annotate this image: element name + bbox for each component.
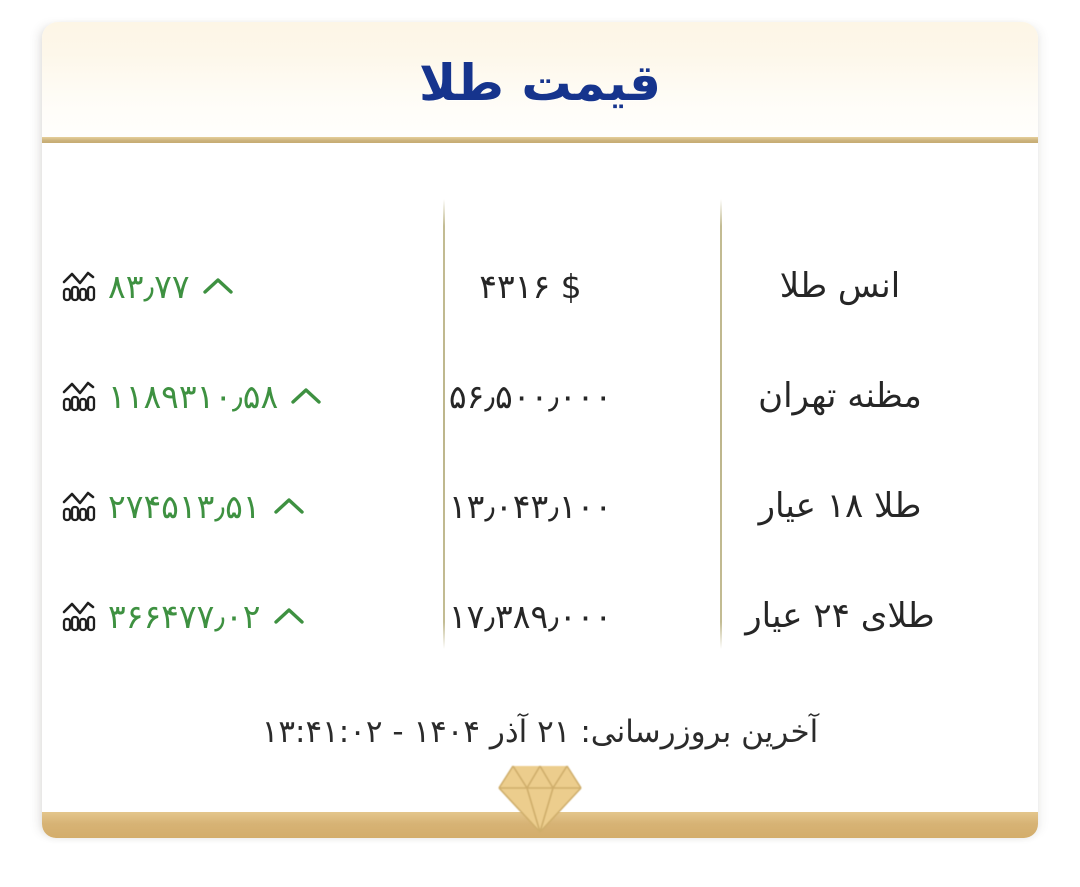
bar-chart-trend-icon[interactable] — [62, 490, 96, 522]
row-price: ۵۶٫۵۰۰٫۰۰۰ — [393, 377, 668, 416]
page-title: قیمت طلا — [419, 58, 661, 108]
row-label: طلای ۲۴ عیار — [690, 596, 990, 636]
caret-up-icon — [273, 496, 305, 516]
row-change-value: ۳۶۶۴۷۷٫۰۲ — [108, 597, 261, 636]
page-root: قیمت طلا انس طلا ۴۳۱۶ $ — [0, 0, 1080, 887]
table-row[interactable]: مظنه تهران ۵۶٫۵۰۰٫۰۰۰ ۱۱۸۹ — [42, 341, 1038, 451]
row-label: طلا ۱۸ عیار — [690, 486, 990, 526]
last-update-text: آخرین بروزرسانی: ۲۱ آذر ۱۴۰۴ - ۱۳:۴۱:۰۲ — [42, 714, 1038, 750]
table-row[interactable]: طلای ۲۴ عیار ۱۷٫۳۸۹٫۰۰۰ ۳۶ — [42, 561, 1038, 671]
caret-up-icon — [202, 276, 234, 296]
diamond-gem-icon — [497, 758, 583, 836]
price-table: انس طلا ۴۳۱۶ $ ۸۳٫۷۷ — [42, 143, 1038, 703]
row-change-cell[interactable]: ۳۶۶۴۷۷٫۰۲ — [62, 597, 368, 636]
row-change-value: ۸۳٫۷۷ — [108, 267, 190, 306]
table-row[interactable]: طلا ۱۸ عیار ۱۳٫۰۴۳٫۱۰۰ ۲۷۴ — [42, 451, 1038, 561]
row-change-cell[interactable]: ۸۳٫۷۷ — [62, 267, 368, 306]
row-change-value: ۱۱۸۹۳۱۰٫۵۸ — [108, 377, 278, 416]
caret-up-icon — [290, 386, 322, 406]
caret-up-icon — [273, 606, 305, 626]
bar-chart-trend-icon[interactable] — [62, 380, 96, 412]
row-price: ۴۳۱۶ $ — [393, 267, 668, 306]
bar-chart-trend-icon[interactable] — [62, 270, 96, 302]
row-price: ۱۷٫۳۸۹٫۰۰۰ — [393, 597, 668, 636]
table-row[interactable]: انس طلا ۴۳۱۶ $ ۸۳٫۷۷ — [42, 231, 1038, 341]
row-change-cell[interactable]: ۱۱۸۹۳۱۰٫۵۸ — [62, 377, 368, 416]
row-label: مظنه تهران — [690, 376, 990, 416]
bar-chart-trend-icon[interactable] — [62, 600, 96, 632]
card-header: قیمت طلا — [42, 22, 1038, 137]
gold-price-card: قیمت طلا انس طلا ۴۳۱۶ $ — [42, 22, 1038, 838]
row-label: انس طلا — [690, 266, 990, 306]
row-change-value: ۲۷۴۵۱۳٫۵۱ — [108, 487, 261, 526]
row-price: ۱۳٫۰۴۳٫۱۰۰ — [393, 487, 668, 526]
price-rows: انس طلا ۴۳۱۶ $ ۸۳٫۷۷ — [42, 143, 1038, 703]
row-change-cell[interactable]: ۲۷۴۵۱۳٫۵۱ — [62, 487, 368, 526]
